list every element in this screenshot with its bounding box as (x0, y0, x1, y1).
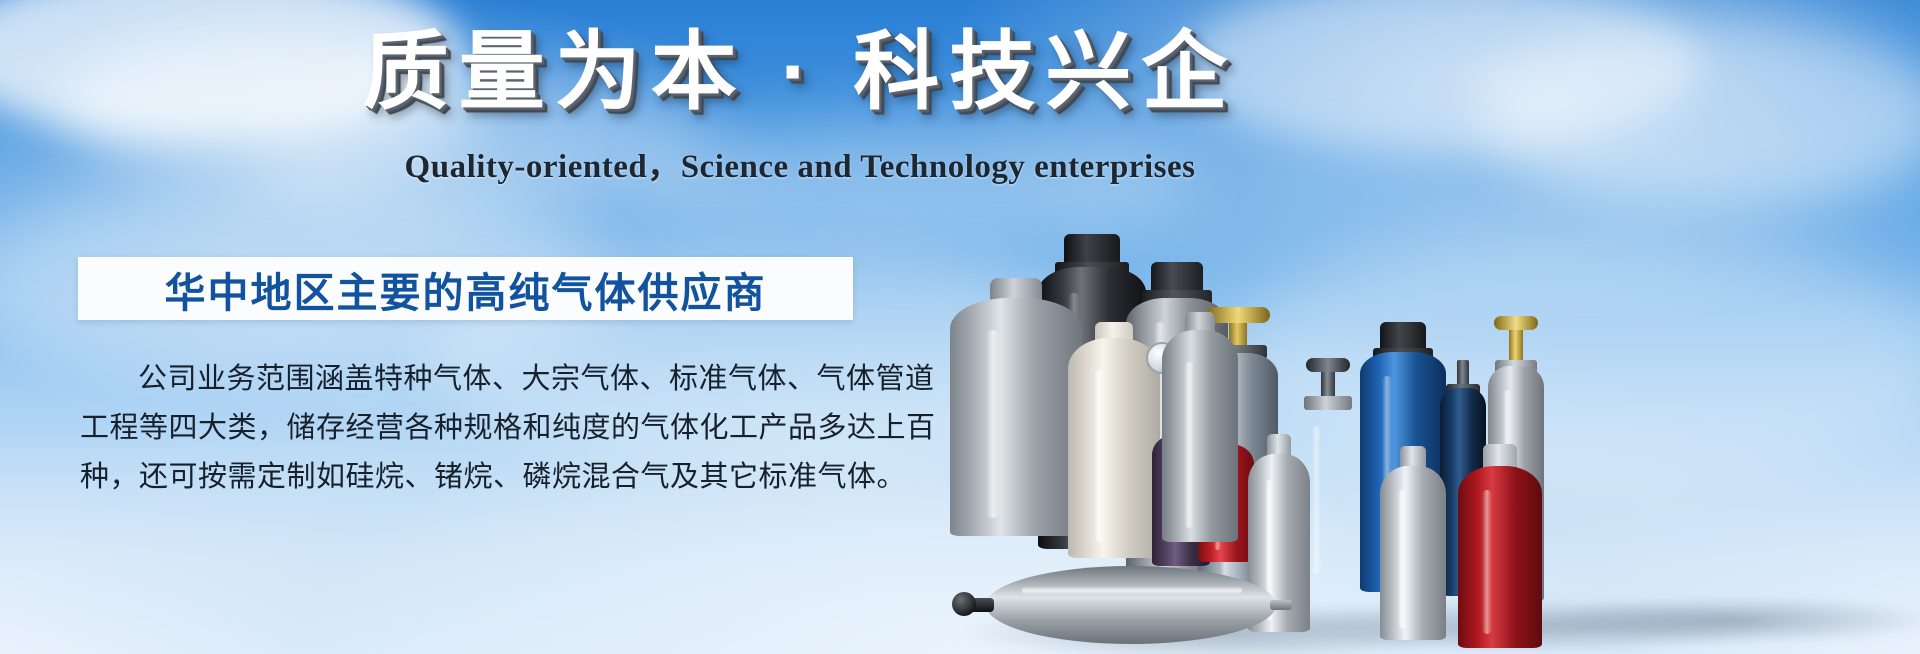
cylinder-neck (1400, 446, 1426, 468)
gauge-cylinder (1162, 328, 1238, 542)
highlight-text: 华中地区主要的高纯气体供应商 (165, 259, 767, 319)
cylinder-body (1068, 338, 1160, 558)
gas-cylinder-illustration (940, 150, 1920, 654)
cylinder-neck (1483, 444, 1517, 468)
cylinder-neck (990, 278, 1042, 300)
red-large-cylinder (1458, 464, 1542, 648)
description-line: 公司业务范围涵盖特种气体、大宗气体、标准气体、气体管道 (80, 355, 870, 404)
white-cylinder (1068, 336, 1160, 558)
valve-handwheel (1494, 316, 1538, 330)
grey-large-cylinder (950, 296, 1082, 536)
highlight-box: 华中地区主要的高纯气体供应商 (78, 257, 853, 320)
cylinder-neck (1185, 312, 1215, 332)
cylinder-body (1380, 466, 1446, 640)
description-line: 工程等四大类，储存经营各种规格和纯度的气体化工产品多达上百 (80, 404, 870, 453)
promo-banner: 质量为本 · 科技兴企 Quality-oriented，Science and… (0, 0, 1920, 654)
valve-handwheel (1206, 307, 1270, 323)
horizontal-tank (986, 566, 1276, 644)
tank-valve-knob (952, 592, 976, 616)
description-line: 种，还可按需定制如硅烷、锗烷、磷烷混合气及其它标准气体。 (80, 453, 870, 502)
cylinder-body (1162, 330, 1238, 542)
ground-shadow (1540, 596, 1920, 644)
tank-outlet (1270, 600, 1292, 610)
cylinder-body (1458, 466, 1542, 648)
tank-body (986, 566, 1276, 644)
valve-handwheel (1306, 358, 1350, 372)
banner-description: 公司业务范围涵盖特种气体、大宗气体、标准气体、气体管道 工程等四大类，储存经营各… (80, 355, 870, 502)
cylinder-neck (1267, 434, 1291, 456)
banner-headline: 质量为本 · 科技兴企 (320, 22, 1280, 123)
silver-aluminium-cylinder (1380, 464, 1446, 640)
cylinder-body (950, 298, 1082, 536)
